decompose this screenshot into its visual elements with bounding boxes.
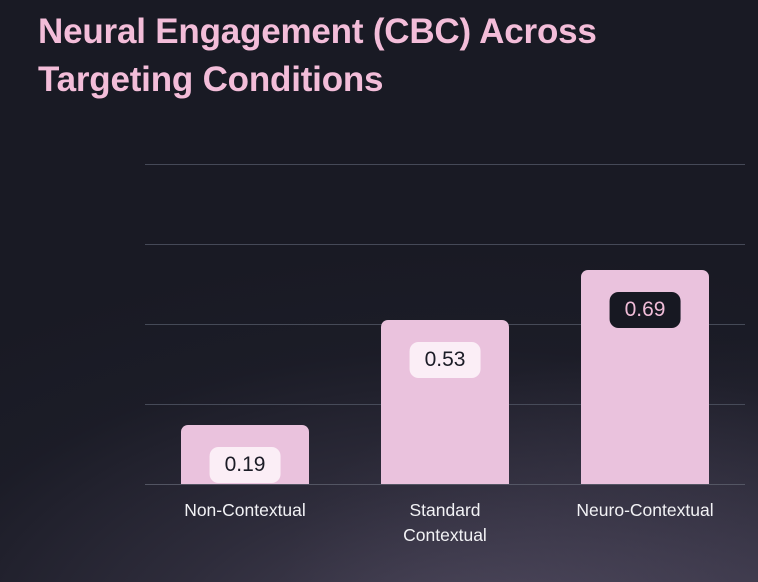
bar-value-label: 0.69 [610, 292, 681, 328]
gridline [145, 164, 745, 165]
chart-canvas: Neural Engagement (CBC) Across Targeting… [0, 0, 758, 582]
x-tick-label: Non-Contextual [145, 498, 345, 523]
bar[interactable]: 0.19 [181, 425, 309, 484]
gridline [145, 484, 745, 485]
plot-area: 0.00.20.40.60.8 0.190.530.69 [145, 164, 745, 484]
x-tick-label: Standard Contextual [345, 498, 545, 549]
bar[interactable]: 0.69 [581, 270, 709, 484]
chart-title: Neural Engagement (CBC) Across Targeting… [38, 8, 728, 103]
chart-title-line-2: Targeting Conditions [38, 56, 728, 104]
bar-value-label: 0.53 [410, 342, 481, 378]
bar-value-label: 0.19 [210, 447, 281, 483]
bar[interactable]: 0.53 [381, 320, 509, 484]
chart-title-line-1: Neural Engagement (CBC) Across [38, 8, 728, 56]
gridline [145, 244, 745, 245]
x-tick-label: Neuro-Contextual [545, 498, 745, 523]
